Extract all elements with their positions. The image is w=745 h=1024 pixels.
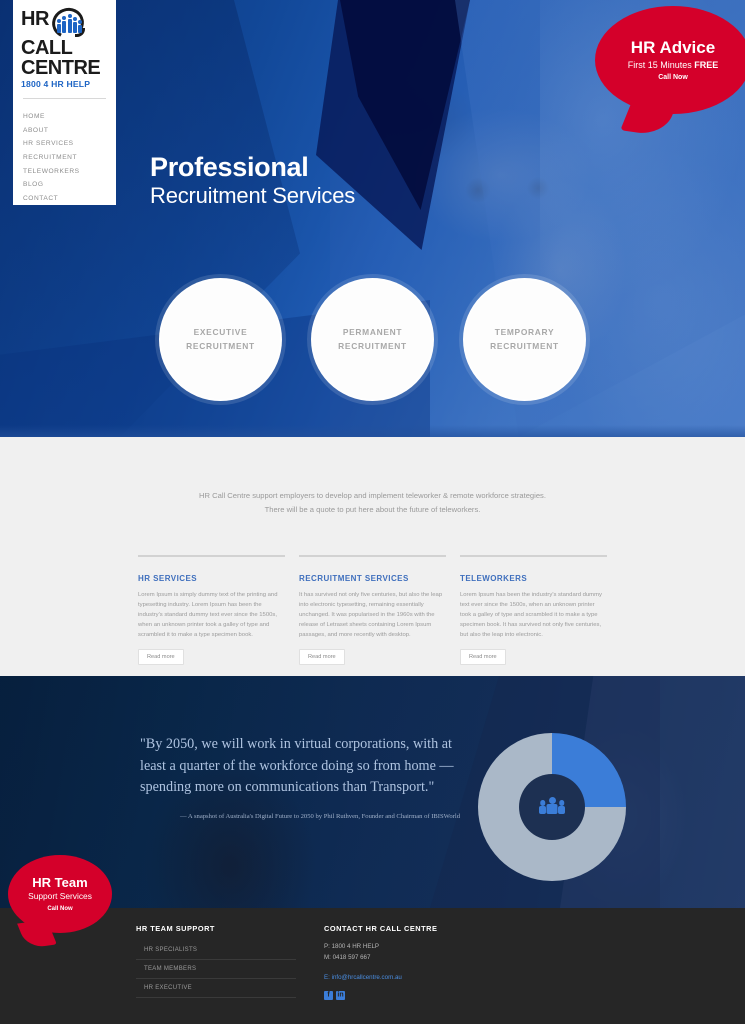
column-top-rule bbox=[299, 555, 446, 557]
footer-column-contact: CONTACT HR CALL CENTRE P: 1800 4 HR HELP… bbox=[324, 924, 574, 1000]
column-teleworkers: TELEWORKERS Lorem Ipsum has been the ind… bbox=[460, 555, 607, 665]
linkedin-icon[interactable]: in bbox=[336, 991, 345, 1000]
nav-item-home[interactable]: HOME bbox=[23, 110, 116, 124]
footer-email-row: E: info@hrcallcentre.com.au bbox=[324, 974, 574, 981]
hero-bottom-edge bbox=[0, 425, 745, 437]
footer-link-hr-specialists[interactable]: HR SPECIALISTS bbox=[136, 941, 296, 960]
nav-item-contact[interactable]: CONTACT bbox=[23, 192, 116, 206]
people-icon bbox=[539, 798, 565, 816]
service-circle-temporary[interactable]: TEMPORARY RECRUITMENT bbox=[463, 278, 586, 401]
hr-team-title: HR Team bbox=[32, 876, 87, 890]
footer-heading: HR TEAM SUPPORT bbox=[136, 924, 296, 933]
hr-team-subtitle: Support Services bbox=[28, 891, 92, 901]
people-group-icon bbox=[57, 14, 81, 33]
hr-team-cta[interactable]: Call Now bbox=[47, 906, 72, 912]
circle-line-2: RECRUITMENT bbox=[490, 340, 559, 354]
hero-heading: Professional Recruitment Services bbox=[150, 152, 355, 209]
hr-advice-free: FREE bbox=[694, 60, 718, 70]
logo-text-hr: HR bbox=[21, 10, 49, 29]
hr-advice-subtitle: First 15 Minutes FREE bbox=[628, 60, 719, 70]
footer-email-prefix: E: bbox=[324, 974, 332, 981]
service-circle-permanent[interactable]: PERMANENT RECRUITMENT bbox=[311, 278, 434, 401]
page-root: Professional Recruitment Services EXECUT… bbox=[0, 0, 745, 1024]
sidebar-panel: HR CALL CENTRE 1800 4 HR HELP HOME ABOUT… bbox=[13, 0, 116, 205]
three-column-row: HR SERVICES Lorem Ipsum is simply dummy … bbox=[0, 555, 745, 665]
footer-link-team-members[interactable]: TEAM MEMBERS bbox=[136, 960, 296, 979]
service-circle-executive[interactable]: EXECUTIVE RECRUITMENT bbox=[159, 278, 282, 401]
column-recruitment-services: RECRUITMENT SERVICES It has survived not… bbox=[299, 555, 446, 665]
quote-section: "By 2050, we will work in virtual corpor… bbox=[0, 676, 745, 908]
read-more-button[interactable]: Read more bbox=[299, 649, 345, 665]
nav-item-about[interactable]: ABOUT bbox=[23, 124, 116, 138]
nav-item-hr-services[interactable]: HR SERVICES bbox=[23, 137, 116, 151]
footer-column-team-support: HR TEAM SUPPORT HR SPECIALISTS TEAM MEMB… bbox=[136, 924, 296, 1000]
quote-attribution: — A snapshot of Australia's Digital Futu… bbox=[140, 812, 460, 822]
column-heading: HR SERVICES bbox=[138, 574, 285, 583]
footer-mobile: M: 0418 597 667 bbox=[324, 952, 574, 963]
content-section: HR Call Centre support employers to deve… bbox=[0, 437, 745, 676]
brand-logo[interactable]: HR CALL CENTRE 1800 4 HR HELP bbox=[13, 10, 116, 89]
column-body: Lorem Ipsum has been the industry's stan… bbox=[460, 590, 607, 641]
footer-phone: P: 1800 4 HR HELP bbox=[324, 941, 574, 952]
read-more-button[interactable]: Read more bbox=[138, 649, 184, 665]
sidebar-divider bbox=[23, 98, 106, 99]
main-navigation: HOME ABOUT HR SERVICES RECRUITMENT TELEW… bbox=[13, 110, 116, 205]
hero-heading-light: Recruitment Services bbox=[150, 183, 355, 209]
facebook-icon[interactable]: f bbox=[324, 991, 333, 1000]
nav-item-blog[interactable]: BLOG bbox=[23, 178, 116, 192]
footer-link-hr-executive[interactable]: HR EXECUTIVE bbox=[136, 979, 296, 998]
hr-team-badge[interactable]: HR Team Support Services Call Now bbox=[8, 855, 112, 933]
quote-text: "By 2050, we will work in virtual corpor… bbox=[140, 734, 460, 799]
quote-block: "By 2050, we will work in virtual corpor… bbox=[140, 734, 460, 822]
hr-advice-title: HR Advice bbox=[631, 39, 715, 58]
intro-text: HR Call Centre support employers to deve… bbox=[0, 437, 745, 517]
column-top-rule bbox=[138, 555, 285, 557]
hero-heading-bold: Professional bbox=[150, 152, 355, 183]
column-body: Lorem Ipsum is simply dummy text of the … bbox=[138, 590, 285, 641]
circle-line-2: RECRUITMENT bbox=[338, 340, 407, 354]
intro-line-2: There will be a quote to put here about … bbox=[0, 503, 745, 517]
column-heading: TELEWORKERS bbox=[460, 574, 607, 583]
hr-advice-badge[interactable]: HR Advice First 15 Minutes FREE Call Now bbox=[595, 6, 745, 114]
footer-social-links: f in bbox=[324, 991, 574, 1000]
read-more-button[interactable]: Read more bbox=[460, 649, 506, 665]
footer-heading: CONTACT HR CALL CENTRE bbox=[324, 924, 574, 933]
headset-icon bbox=[50, 8, 86, 38]
column-heading: RECRUITMENT SERVICES bbox=[299, 574, 446, 583]
intro-line-1: HR Call Centre support employers to deve… bbox=[0, 489, 745, 503]
circle-line-2: RECRUITMENT bbox=[186, 340, 255, 354]
hr-advice-cta[interactable]: Call Now bbox=[658, 74, 688, 81]
column-top-rule bbox=[460, 555, 607, 557]
page-footer: HR TEAM SUPPORT HR SPECIALISTS TEAM MEMB… bbox=[0, 908, 745, 1024]
nav-item-recruitment[interactable]: RECRUITMENT bbox=[23, 151, 116, 165]
logo-text-call: CALL bbox=[21, 38, 108, 58]
facebook-glyph: f bbox=[327, 992, 329, 999]
column-hr-services: HR SERVICES Lorem Ipsum is simply dummy … bbox=[138, 555, 285, 665]
linkedin-glyph: in bbox=[337, 992, 343, 999]
donut-center bbox=[519, 774, 585, 840]
footer-email-link[interactable]: info@hrcallcentre.com.au bbox=[332, 974, 402, 981]
circle-line-1: TEMPORARY bbox=[490, 326, 559, 340]
column-body: It has survived not only five centuries,… bbox=[299, 590, 446, 641]
nav-item-teleworkers[interactable]: TELEWORKERS bbox=[23, 164, 116, 178]
logo-text-centre: CENTRE bbox=[21, 58, 108, 78]
workforce-donut-chart bbox=[478, 733, 626, 881]
service-circles: EXECUTIVE RECRUITMENT PERMANENT RECRUITM… bbox=[0, 278, 745, 401]
hr-advice-subtitle-prefix: First 15 Minutes bbox=[628, 60, 695, 70]
circle-line-1: PERMANENT bbox=[338, 326, 407, 340]
circle-line-1: EXECUTIVE bbox=[186, 326, 255, 340]
logo-phone-number: 1800 4 HR HELP bbox=[21, 79, 108, 89]
